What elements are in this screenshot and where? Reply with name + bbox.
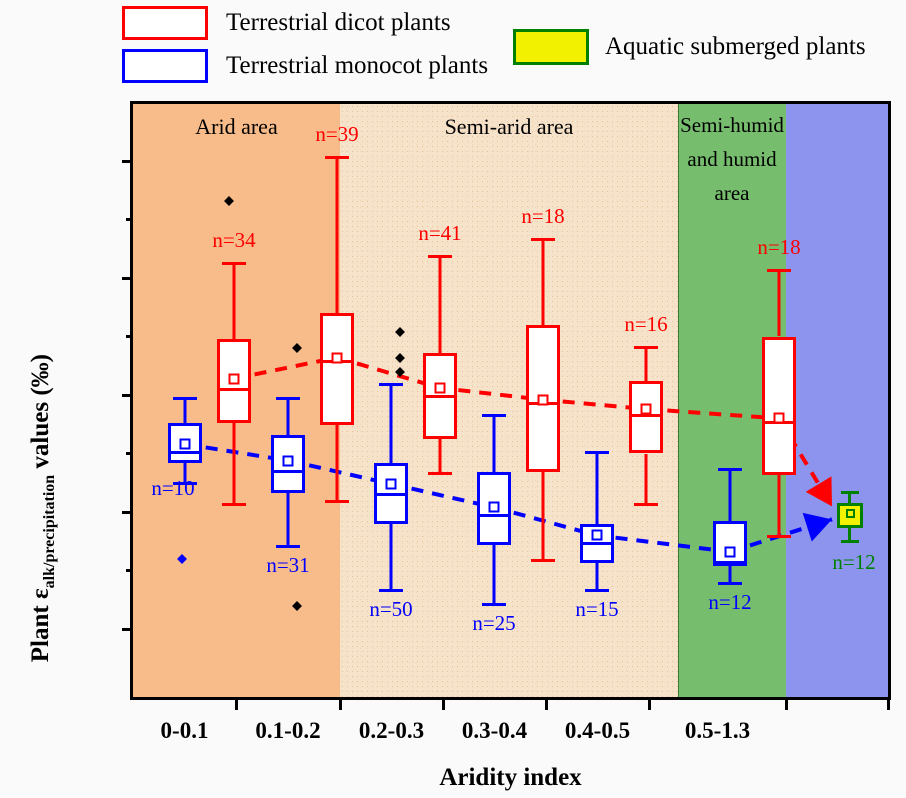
x-tick <box>339 697 342 710</box>
y-tick-major <box>122 628 133 631</box>
mean-marker <box>592 530 603 541</box>
aquatic-whisker-lower <box>848 528 851 540</box>
boxplot <box>217 104 251 697</box>
y-tick-major <box>122 160 133 163</box>
median-line <box>217 388 251 391</box>
sample-count-label: n=34 <box>212 228 255 253</box>
sample-count-label: n=25 <box>472 611 515 636</box>
x-tick-label-3: 0.3-0.4 <box>462 718 527 744</box>
mean-marker <box>283 455 294 466</box>
sample-count-label: n=18 <box>757 235 800 260</box>
y-axis-title-main: Plant ε <box>27 588 54 662</box>
mean-marker <box>725 546 736 557</box>
whisker-cap-upper <box>531 238 555 241</box>
whisker-upper <box>542 238 545 325</box>
aquatic-count-label: n=12 <box>832 550 875 575</box>
boxplot <box>762 104 796 697</box>
chart-legend: Terrestrial dicot plants Terrestrial mon… <box>0 0 906 96</box>
whisker-lower <box>778 475 781 536</box>
whisker-cap-lower <box>222 503 246 506</box>
whisker-lower <box>287 493 290 544</box>
y-tick-minor <box>126 569 133 572</box>
x-tick-label-0: 0-0.1 <box>161 718 209 744</box>
x-tick-label-4: 0.4-0.5 <box>565 718 630 744</box>
mean-marker <box>332 352 343 363</box>
boxplot <box>477 104 511 697</box>
legend-item-monocot: Terrestrial monocot plants <box>122 49 488 83</box>
whisker-cap-upper <box>482 414 506 417</box>
whisker-cap-upper <box>325 156 349 159</box>
y-tick-major <box>122 277 133 280</box>
whisker-cap-lower <box>428 472 452 475</box>
sample-count-label: n=15 <box>575 597 618 622</box>
chart-root: Terrestrial dicot plants Terrestrial mon… <box>0 0 906 798</box>
aquatic-marker <box>837 104 863 697</box>
x-tick-label-2: 0.2-0.3 <box>359 718 424 744</box>
y-tick-major <box>122 511 133 514</box>
x-tick <box>785 697 788 710</box>
mean-marker <box>774 413 785 424</box>
whisker-cap-lower <box>325 500 349 503</box>
whisker-cap-upper <box>585 451 609 454</box>
sample-count-label: n=39 <box>315 122 358 147</box>
legend-item-dicot: Terrestrial dicot plants <box>122 6 451 40</box>
x-tick <box>887 697 890 710</box>
sample-count-label: n=12 <box>708 590 751 615</box>
sample-count-label: n=16 <box>624 312 667 337</box>
mean-marker <box>641 404 652 415</box>
legend-item-aquatic: Aquatic submerged plants <box>513 29 866 65</box>
mean-marker <box>386 478 397 489</box>
sample-count-label: n=41 <box>418 221 461 246</box>
x-axis-title: Aridity index <box>133 764 888 792</box>
boxplot <box>526 104 560 697</box>
whisker-upper <box>729 468 732 522</box>
whisker-lower <box>645 454 648 503</box>
x-tick <box>545 697 548 710</box>
sample-count-label: n=10 <box>151 476 194 501</box>
mean-marker <box>538 394 549 405</box>
whisker-cap-upper <box>767 269 791 272</box>
whisker-upper <box>439 255 442 353</box>
whisker-upper <box>493 414 496 473</box>
whisker-lower <box>596 563 599 589</box>
boxplot <box>320 104 354 697</box>
median-line <box>374 493 408 496</box>
mean-marker <box>435 382 446 393</box>
mean-marker <box>180 439 191 450</box>
whisker-cap-lower <box>718 582 742 585</box>
x-tick-label-1: 0.1-0.2 <box>255 718 320 744</box>
whisker-upper <box>233 262 236 339</box>
whisker-lower <box>390 524 393 590</box>
box-iqr <box>629 381 663 454</box>
median-line <box>423 395 457 398</box>
whisker-cap-lower <box>531 559 555 562</box>
legend-label-aquatic: Aquatic submerged plants <box>605 33 866 61</box>
whisker-cap-upper <box>379 383 403 386</box>
x-tick-label-5: 0.5-1.3 <box>685 718 750 744</box>
box-iqr <box>713 521 747 565</box>
aquatic-mean-marker <box>846 509 855 518</box>
mean-marker <box>229 373 240 384</box>
whisker-upper <box>390 383 393 463</box>
whisker-cap-lower <box>634 503 658 506</box>
whisker-upper <box>336 156 339 313</box>
box-iqr <box>762 337 796 475</box>
whisker-cap-lower <box>585 589 609 592</box>
y-axis-title-subscript: alk/precipitation <box>41 475 58 589</box>
boxplot <box>168 104 202 697</box>
boxplot <box>629 104 663 697</box>
y-tick-minor <box>126 218 133 221</box>
median-line <box>168 451 202 454</box>
y-tick-minor <box>126 452 133 455</box>
whisker-cap-upper <box>718 468 742 471</box>
whisker-upper <box>287 397 290 434</box>
plot-area: Arid area Semi-arid area Semi-humid and … <box>130 101 891 700</box>
whisker-cap-lower <box>482 603 506 606</box>
legend-swatch-monocot <box>122 49 208 83</box>
whisker-lower <box>729 566 732 582</box>
whisker-cap-upper <box>276 397 300 400</box>
sample-count-label: n=18 <box>521 204 564 229</box>
mean-marker <box>489 502 500 513</box>
whisker-lower <box>439 439 442 472</box>
whisker-cap-lower <box>767 535 791 538</box>
whisker-upper <box>184 397 187 423</box>
y-tick-major <box>122 394 133 397</box>
y-axis-title-units: values (‰) <box>27 354 54 475</box>
aquatic-cap-upper <box>841 491 859 494</box>
median-line <box>580 542 614 545</box>
whisker-cap-upper <box>428 255 452 258</box>
whisker-lower <box>493 545 496 604</box>
legend-label-monocot: Terrestrial monocot plants <box>226 52 488 80</box>
whisker-lower <box>233 423 236 503</box>
y-axis-title: Plant εalk/precipitation values (‰) <box>27 354 59 662</box>
sample-count-label: n=50 <box>369 597 412 622</box>
median-line <box>477 514 511 517</box>
legend-swatch-aquatic <box>513 29 589 65</box>
whisker-cap-upper <box>634 346 658 349</box>
boxplot <box>423 104 457 697</box>
whisker-upper <box>778 269 781 337</box>
whisker-lower <box>542 472 545 559</box>
whisker-lower <box>336 425 339 500</box>
legend-swatch-dicot <box>122 6 208 40</box>
sample-count-label: n=31 <box>266 553 309 578</box>
x-tick <box>442 697 445 710</box>
x-tick <box>235 697 238 710</box>
whisker-upper <box>596 451 599 524</box>
whisker-cap-lower <box>276 545 300 548</box>
box-iqr <box>320 313 354 425</box>
whisker-cap-upper <box>222 262 246 265</box>
aquatic-cap-lower <box>841 540 859 543</box>
whisker-cap-lower <box>379 589 403 592</box>
y-tick-minor <box>126 335 133 338</box>
legend-label-dicot: Terrestrial dicot plants <box>226 9 451 37</box>
x-tick <box>648 697 651 710</box>
whisker-cap-upper <box>173 397 197 400</box>
median-line <box>713 561 747 564</box>
whisker-upper <box>645 346 648 381</box>
median-line <box>271 470 305 473</box>
